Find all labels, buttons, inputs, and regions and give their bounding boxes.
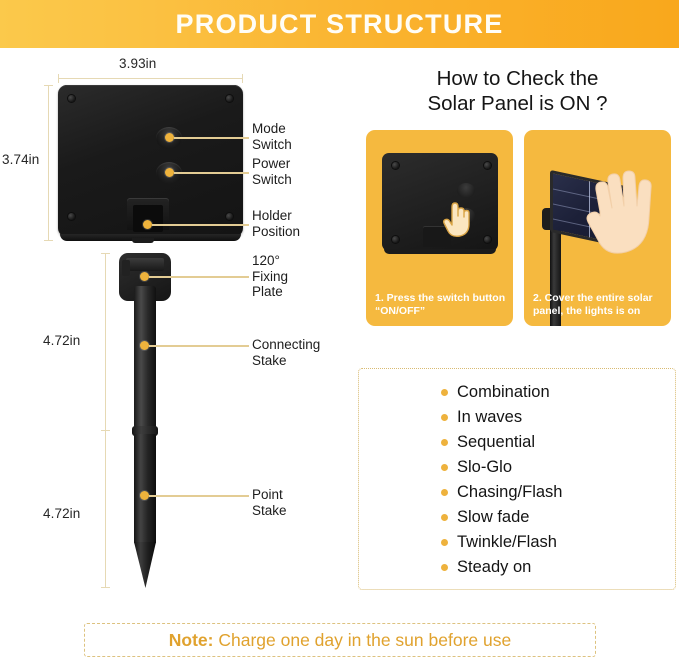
mode-label: Steady on — [457, 558, 531, 577]
bullet-icon — [441, 414, 448, 421]
covering-hand-icon — [582, 160, 666, 270]
bullet-icon — [441, 564, 448, 571]
instruction-card-1: 1. Press the switch button “ON/OFF” — [366, 130, 513, 326]
note-body: Charge one day in the sun before use — [214, 630, 512, 650]
list-item: In waves — [359, 405, 675, 430]
callout-label-holder-position: Holder Position — [252, 208, 300, 239]
product-diagram: 3.93in 3.74in 4.72in — [0, 48, 350, 608]
dimension-height-line — [48, 85, 49, 241]
callout-dot-connecting-stake — [140, 341, 149, 350]
dimension-point-cap-bottom — [101, 587, 110, 588]
note-text: Note: Charge one day in the sun before u… — [169, 630, 511, 651]
callout-label-fixing-plate: 120° Fixing Plate — [252, 253, 288, 300]
list-item: Sequential — [359, 430, 675, 455]
callout-line-point-stake — [149, 495, 249, 497]
callout-dot-fixing-plate — [140, 272, 149, 281]
callout-line-mode-switch — [174, 137, 249, 139]
panel-bottom-tab — [132, 238, 154, 243]
card1-caption: 1. Press the switch button “ON/OFF” — [375, 292, 507, 318]
callout-line-holder-position — [152, 224, 249, 226]
dimension-width-line — [58, 78, 243, 79]
instruction-cards: 1. Press the switch button “ON/OFF” 2. C… — [356, 116, 679, 326]
list-item: Twinkle/Flash — [359, 530, 675, 555]
how-to-check-section: How to Check the Solar Panel is ON ? 1. … — [356, 56, 679, 326]
bullet-icon — [441, 514, 448, 521]
callout-line-power-switch — [174, 172, 249, 174]
callout-dot-power-switch — [165, 168, 174, 177]
mode-label: Slo-Glo — [457, 458, 512, 477]
list-item: Steady on — [359, 555, 675, 580]
card1-screw-bottom-right-icon — [484, 236, 491, 243]
instruction-card-2: 2. Cover the entire solar panel, the lig… — [524, 130, 671, 326]
bullet-icon — [441, 489, 448, 496]
dimension-height-cap-bottom — [44, 240, 53, 241]
callout-label-point-stake: Point Stake — [252, 487, 287, 518]
dimension-connecting-label: 4.72in — [43, 333, 80, 348]
mode-label: Chasing/Flash — [457, 483, 562, 502]
callout-dot-point-stake — [140, 491, 149, 500]
lighting-modes-box: Combination In waves Sequential Slo-Glo … — [358, 368, 676, 590]
note-box: Note: Charge one day in the sun before u… — [84, 623, 596, 657]
note-prefix: Note: — [169, 630, 214, 650]
dimension-point-label: 4.72in — [43, 506, 80, 521]
callout-dot-mode-switch — [165, 133, 174, 142]
card2-caption: 2. Cover the entire solar panel, the lig… — [533, 292, 665, 318]
dimension-connecting-cap-top — [101, 253, 110, 254]
page-title: PRODUCT STRUCTURE — [176, 11, 504, 38]
point-stake-tip — [134, 542, 156, 588]
bullet-icon — [441, 464, 448, 471]
bullet-icon — [441, 539, 448, 546]
dimension-height-label: 3.74in — [2, 152, 39, 167]
callout-label-connecting-stake: Connecting Stake — [252, 337, 320, 368]
mode-label: Combination — [457, 383, 550, 402]
product-structure-infographic: PRODUCT STRUCTURE 3.93in 3.74in — [0, 0, 679, 665]
callout-line-connecting-stake — [149, 345, 249, 347]
card1-screw-top-left-icon — [392, 162, 399, 169]
card1-panel-lip — [384, 249, 496, 254]
lighting-modes-list: Combination In waves Sequential Slo-Glo … — [359, 369, 675, 580]
card1-mode-switch-button — [457, 183, 475, 198]
dimension-width-label: 3.93in — [119, 56, 156, 71]
bullet-icon — [441, 439, 448, 446]
mode-label: Sequential — [457, 433, 535, 452]
fixing-plate-side-detail — [122, 260, 130, 276]
list-item: Slo-Glo — [359, 455, 675, 480]
fixing-plate-detail — [126, 258, 164, 271]
mode-label: Twinkle/Flash — [457, 533, 557, 552]
check-title-line1: How to Check the — [362, 66, 673, 91]
check-section-title: How to Check the Solar Panel is ON ? — [356, 56, 679, 116]
callout-dot-holder-position — [143, 220, 152, 229]
callout-label-power-switch: Power Switch — [252, 156, 292, 187]
bullet-icon — [441, 389, 448, 396]
header-banner: PRODUCT STRUCTURE — [0, 0, 679, 48]
check-title-line2: Solar Panel is ON ? — [362, 91, 673, 116]
list-item: Chasing/Flash — [359, 480, 675, 505]
screw-top-right-icon — [226, 95, 233, 102]
card1-screw-bottom-left-icon — [392, 236, 399, 243]
list-item: Combination — [359, 380, 675, 405]
list-item: Slow fade — [359, 505, 675, 530]
dimension-point-line — [105, 431, 106, 588]
dimension-width-cap-left — [58, 74, 59, 83]
connecting-stake — [134, 286, 156, 431]
callout-line-fixing-plate — [149, 276, 249, 278]
card1-screw-top-right-icon — [484, 162, 491, 169]
mode-label: Slow fade — [457, 508, 529, 527]
callout-label-mode-switch: Mode Switch — [252, 121, 292, 152]
mode-label: In waves — [457, 408, 522, 427]
dimension-height-cap-top — [44, 85, 53, 86]
dimension-connecting-line — [105, 253, 106, 431]
point-stake-shaft — [134, 434, 156, 544]
screw-bottom-left-icon — [68, 213, 75, 220]
dimension-width-cap-right — [242, 74, 243, 83]
pressing-hand-icon — [442, 202, 472, 238]
screw-top-left-icon — [68, 95, 75, 102]
screw-bottom-right-icon — [226, 213, 233, 220]
